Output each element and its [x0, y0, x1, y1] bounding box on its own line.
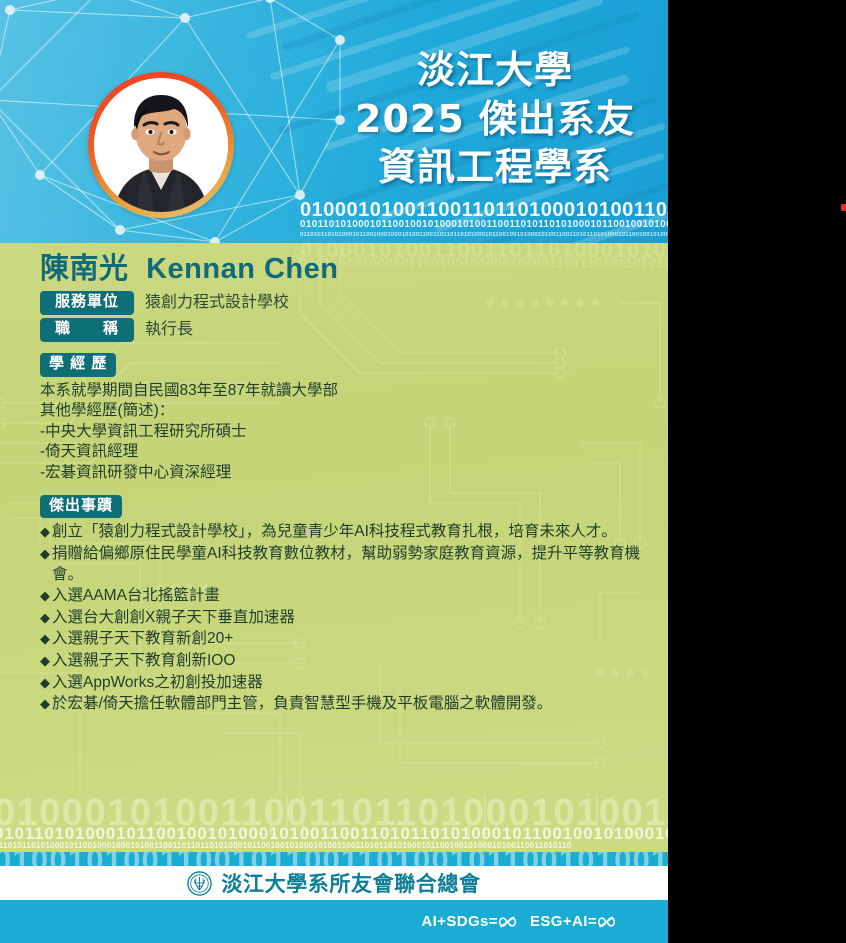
section-header-achievements: 傑出事蹟	[40, 495, 642, 519]
binary-line-1: 0100010100110011011010001010011001101101	[300, 200, 668, 220]
list-item: ◆ 捐贈給偏鄉原住民學童AI科技教育數位教材，幫助弱勢家庭教育資源，提升平等教育…	[40, 544, 642, 585]
cyan-binary-text: 0100101001100101100110100101100101001101…	[0, 852, 668, 867]
poster-canvas: 淡江大學 2025 傑出系友 資訊工程學系 010001010011001101…	[0, 0, 668, 943]
slogan-equals-2: =	[588, 913, 597, 930]
achievement-text: 入選AAMA台北搖籃計畫	[52, 586, 642, 607]
footer-organization-bar: 淡江大學系所友會聯合總會	[0, 866, 668, 900]
slogan-esg: ESG	[530, 913, 563, 930]
cyan-binary-strip: 0100101001100101100110100101100101001101…	[0, 852, 668, 867]
education-line-3: -中央大學資訊工程研究所碩士	[40, 422, 642, 443]
field-row-organization: 服務單位 猿創力程式設計學校	[40, 291, 642, 315]
bullet-icon: ◆	[40, 522, 50, 542]
education-line-2: 其他學經歷(簡述)：	[40, 401, 642, 422]
field-value-job-title: 執行長	[145, 320, 193, 341]
poster-body: 0100010100110011011010001010011001101101…	[0, 243, 668, 796]
person-name-zh: 陳南光	[40, 253, 129, 285]
infinity-slashed-icon	[597, 915, 616, 929]
list-item: ◆ 入選AAMA台北搖籃計畫	[40, 586, 642, 607]
title-line-2: 2025 傑出系友	[330, 95, 660, 144]
education-paragraph: 本系就學期間自民國83年至87年就讀大學部 其他學經歷(簡述)： -中央大學資訊…	[40, 381, 642, 484]
education-line-4: -倚天資訊經理	[40, 442, 642, 463]
education-line-1: 本系就學期間自民國83年至87年就讀大學部	[40, 381, 642, 402]
education-line-5: -宏碁資訊研發中心資深經理	[40, 463, 642, 484]
header-binary-decoration: 0100010100110011011010001010011001101101…	[300, 198, 668, 243]
slogan-ai-2: AI	[572, 913, 588, 930]
list-item: ◆ 入選AppWorks之初創投加速器	[40, 673, 642, 694]
list-item: ◆ 入選親子天下教育新創20+	[40, 629, 642, 650]
field-value-organization: 猿創力程式設計學校	[145, 293, 289, 314]
list-item: ◆ 入選台大創創X親子天下垂直加速器	[40, 608, 642, 629]
red-marker-dot	[841, 204, 846, 211]
achievement-text: 創立「猿創力程式設計學校」，為兒童青少年AI科技程式教育扎根，培育未來人才。	[52, 522, 642, 543]
footer-slogan-bar: AI + SDGs = ESG + AI =	[0, 900, 668, 943]
slogan-equals-1: =	[489, 913, 498, 930]
list-item: ◆ 入選親子天下教育創新IOO	[40, 651, 642, 672]
achievements-list: ◆ 創立「猿創力程式設計學校」，為兒童青少年AI科技程式教育扎根，培育未來人才。…	[40, 522, 642, 714]
field-label-job-title: 職 稱	[40, 318, 134, 342]
right-gutter	[668, 0, 846, 943]
field-row-job-title: 職 稱 執行長	[40, 318, 642, 342]
binary-line-3: 0110101101010001011001000100010100110011…	[300, 232, 668, 238]
slogan-ai-1: AI	[421, 913, 437, 930]
infinity-slashed-icon	[498, 915, 517, 929]
bullet-icon: ◆	[40, 544, 50, 564]
bullet-icon: ◆	[40, 673, 50, 693]
bullet-icon: ◆	[40, 608, 50, 628]
profile-content: 陳南光 Kennan Chen 服務單位 猿創力程式設計學校 職 稱 執行長 學…	[0, 243, 668, 715]
tku-seal-icon	[187, 871, 212, 896]
slogan: AI + SDGs = ESG + AI =	[421, 913, 616, 930]
avatar	[88, 72, 234, 218]
slogan-sdgs: SDGs	[446, 913, 488, 930]
achievement-text: 捐贈給偏鄉原住民學童AI科技教育數位教材，幫助弱勢家庭教育資源，提升平等教育機會…	[52, 544, 642, 585]
achievement-text: 入選AppWorks之初創投加速器	[52, 673, 642, 694]
avatar-image	[94, 78, 228, 212]
list-item: ◆ 於宏碁/倚天擔任軟體部門主管，負責智慧型手機及平板電腦之軟體開發。	[40, 694, 642, 715]
bottom-binary-small: 0110101101010001011001000100010100110011…	[0, 841, 572, 850]
person-name: 陳南光 Kennan Chen	[40, 253, 642, 286]
slogan-plus-1: +	[437, 913, 446, 930]
list-item: ◆ 創立「猿創力程式設計學校」，為兒童青少年AI科技程式教育扎根，培育未來人才。	[40, 522, 642, 543]
portrait-illustration	[94, 78, 228, 212]
section-badge-achievements: 傑出事蹟	[40, 495, 122, 519]
person-name-en: Kennan Chen	[146, 253, 338, 285]
achievement-text: 於宏碁/倚天擔任軟體部門主管，負責智慧型手機及平板電腦之軟體開發。	[52, 694, 642, 715]
bullet-icon: ◆	[40, 651, 50, 671]
field-label-organization: 服務單位	[40, 291, 134, 315]
achievement-text: 入選親子天下教育新創20+	[52, 629, 642, 650]
achievement-text: 入選台大創創X親子天下垂直加速器	[52, 608, 642, 629]
title-line-1: 淡江大學	[330, 46, 660, 95]
section-badge-education: 學 經 歷	[40, 353, 116, 377]
bullet-icon: ◆	[40, 629, 50, 649]
binary-line-2: 0101101010001011001001010001010011001101…	[300, 220, 668, 230]
bullet-icon: ◆	[40, 694, 50, 714]
page-title: 淡江大學 2025 傑出系友 資訊工程學系	[330, 46, 660, 192]
poster-header: 淡江大學 2025 傑出系友 資訊工程學系 010001010011001101…	[0, 0, 668, 243]
achievement-text: 入選親子天下教育創新IOO	[52, 651, 642, 672]
footer-org-name: 淡江大學系所友會聯合總會	[221, 868, 480, 898]
bullet-icon: ◆	[40, 586, 50, 606]
slogan-plus-2: +	[563, 913, 572, 930]
title-line-3: 資訊工程學系	[330, 143, 660, 192]
section-header-education: 學 經 歷	[40, 353, 642, 377]
